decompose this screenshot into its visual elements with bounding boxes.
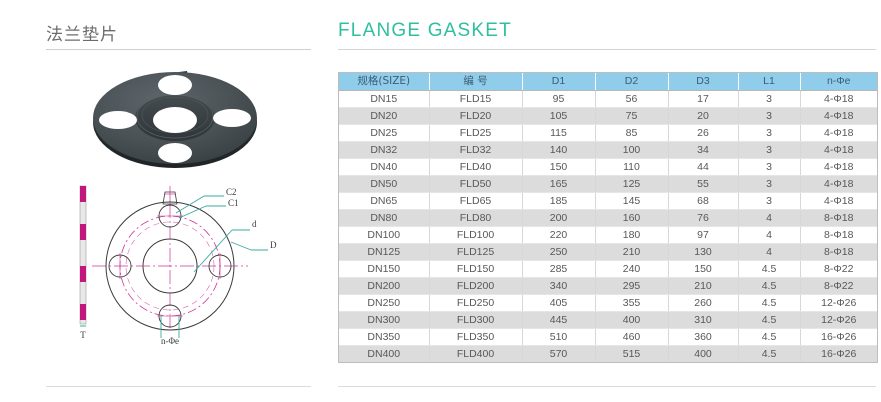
- cell-code: FLD100: [429, 227, 522, 244]
- cell-holes: 12-Φ26: [800, 295, 877, 312]
- cell-code: FLD15: [429, 91, 522, 108]
- cell-d3: 210: [668, 278, 738, 295]
- cell-l1: 4.5: [738, 312, 800, 329]
- table-row: DN300FLD3004454003104.512-Φ26: [339, 312, 877, 329]
- cell-size: DN50: [339, 176, 429, 193]
- cell-d1: 570: [522, 346, 595, 363]
- cell-d2: 515: [595, 346, 668, 363]
- cell-size: DN300: [339, 312, 429, 329]
- technical-drawing: T: [72, 180, 287, 345]
- cell-d1: 405: [522, 295, 595, 312]
- cell-d3: 260: [668, 295, 738, 312]
- label-d: d: [252, 219, 257, 229]
- cell-d1: 150: [522, 159, 595, 176]
- cell-size: DN250: [339, 295, 429, 312]
- table-row: DN32FLD321401003434-Φ18: [339, 142, 877, 159]
- cell-d1: 140: [522, 142, 595, 159]
- cell-d3: 17: [668, 91, 738, 108]
- table-row: DN25FLD25115852634-Φ18: [339, 125, 877, 142]
- spec-table-body: DN15FLD1595561734-Φ18DN20FLD20105752034-…: [339, 91, 877, 363]
- gasket-photo-svg: [75, 58, 275, 178]
- page-title-chinese: 法兰垫片: [46, 20, 118, 45]
- cell-size: DN80: [339, 210, 429, 227]
- cell-l1: 4.5: [738, 329, 800, 346]
- cell-code: FLD80: [429, 210, 522, 227]
- footer-divider-left: [46, 386, 311, 387]
- cell-d3: 97: [668, 227, 738, 244]
- leader-c1: [179, 206, 206, 218]
- table-row: DN100FLD1002201809748-Φ18: [339, 227, 877, 244]
- col-header-d1: D1: [522, 73, 595, 91]
- cell-d1: 200: [522, 210, 595, 227]
- cell-d1: 510: [522, 329, 595, 346]
- cell-d1: 340: [522, 278, 595, 295]
- cell-holes: 8-Φ22: [800, 261, 877, 278]
- cell-d1: 105: [522, 108, 595, 125]
- table-row: DN125FLD12525021013048-Φ18: [339, 244, 877, 261]
- cell-d3: 44: [668, 159, 738, 176]
- label-T: T: [80, 330, 86, 340]
- col-header-holes: n-Φe: [800, 73, 877, 91]
- cell-holes: 4-Φ18: [800, 142, 877, 159]
- cell-l1: 4.5: [738, 278, 800, 295]
- cell-size: DN40: [339, 159, 429, 176]
- product-photo: [75, 58, 275, 178]
- title-divider-left: [46, 49, 311, 50]
- cell-l1: 4: [738, 210, 800, 227]
- cell-d3: 34: [668, 142, 738, 159]
- section-view-strip: T: [80, 186, 86, 340]
- cell-d2: 295: [595, 278, 668, 295]
- cell-size: DN32: [339, 142, 429, 159]
- gasket-bolt-hole-right: [213, 109, 251, 127]
- cell-d3: 150: [668, 261, 738, 278]
- label-C1: C1: [228, 198, 239, 208]
- col-header-size: 规格(SIZE): [339, 73, 429, 91]
- cell-d2: 100: [595, 142, 668, 159]
- cell-code: FLD32: [429, 142, 522, 159]
- cell-size: DN350: [339, 329, 429, 346]
- cell-d3: 68: [668, 193, 738, 210]
- col-header-code: 编 号: [429, 73, 522, 91]
- cell-holes: 4-Φ18: [800, 176, 877, 193]
- gasket-bolt-hole-bottom: [158, 143, 192, 163]
- cell-d1: 250: [522, 244, 595, 261]
- cell-l1: 4: [738, 244, 800, 261]
- cell-d2: 75: [595, 108, 668, 125]
- cell-size: DN150: [339, 261, 429, 278]
- gasket-bolt-hole-left: [99, 111, 137, 129]
- table-row: DN250FLD2504053552604.512-Φ26: [339, 295, 877, 312]
- leader-c2: [176, 196, 204, 213]
- cell-code: FLD200: [429, 278, 522, 295]
- cell-code: FLD250: [429, 295, 522, 312]
- cell-size: DN25: [339, 125, 429, 142]
- cell-d2: 180: [595, 227, 668, 244]
- plan-view: C2 C1 d D n-Φe: [92, 186, 277, 345]
- cell-size: DN400: [339, 346, 429, 363]
- cell-d3: 55: [668, 176, 738, 193]
- col-header-l1: L1: [738, 73, 800, 91]
- cell-l1: 3: [738, 176, 800, 193]
- cell-code: FLD150: [429, 261, 522, 278]
- cell-d1: 115: [522, 125, 595, 142]
- cell-l1: 3: [738, 159, 800, 176]
- cell-l1: 3: [738, 91, 800, 108]
- cell-size: DN200: [339, 278, 429, 295]
- label-D: D: [270, 240, 277, 250]
- table-header-row: 规格(SIZE) 编 号 D1 D2 D3 L1 n-Φe: [339, 73, 877, 91]
- cell-holes: 8-Φ22: [800, 278, 877, 295]
- cell-code: FLD125: [429, 244, 522, 261]
- cell-size: DN65: [339, 193, 429, 210]
- cell-d2: 125: [595, 176, 668, 193]
- cell-d2: 160: [595, 210, 668, 227]
- col-header-d3: D3: [668, 73, 738, 91]
- cell-holes: 16-Φ26: [800, 329, 877, 346]
- cell-d3: 26: [668, 125, 738, 142]
- table-row: DN80FLD802001607648-Φ18: [339, 210, 877, 227]
- cell-d1: 285: [522, 261, 595, 278]
- cell-d2: 145: [595, 193, 668, 210]
- cell-d2: 460: [595, 329, 668, 346]
- cell-holes: 4-Φ18: [800, 159, 877, 176]
- cell-l1: 4.5: [738, 295, 800, 312]
- cell-holes: 4-Φ18: [800, 91, 877, 108]
- table-row: DN20FLD20105752034-Φ18: [339, 108, 877, 125]
- cell-d2: 400: [595, 312, 668, 329]
- cell-l1: 4.5: [738, 346, 800, 363]
- cell-d2: 56: [595, 91, 668, 108]
- table-row: DN15FLD1595561734-Φ18: [339, 91, 877, 108]
- cell-l1: 3: [738, 125, 800, 142]
- cell-d1: 185: [522, 193, 595, 210]
- table-row: DN65FLD651851456834-Φ18: [339, 193, 877, 210]
- cell-code: FLD40: [429, 159, 522, 176]
- cell-holes: 12-Φ26: [800, 312, 877, 329]
- cell-code: FLD50: [429, 176, 522, 193]
- cell-l1: 3: [738, 108, 800, 125]
- title-divider-right: [338, 49, 876, 50]
- cell-d3: 310: [668, 312, 738, 329]
- cell-holes: 8-Φ18: [800, 244, 877, 261]
- leader-d-big: [231, 242, 251, 250]
- spec-table-container: 规格(SIZE) 编 号 D1 D2 D3 L1 n-Φe DN15FLD159…: [338, 72, 878, 363]
- col-header-d2: D2: [595, 73, 668, 91]
- cell-d1: 445: [522, 312, 595, 329]
- cell-holes: 4-Φ18: [800, 193, 877, 210]
- cell-holes: 4-Φ18: [800, 108, 877, 125]
- cell-code: FLD65: [429, 193, 522, 210]
- cell-size: DN125: [339, 244, 429, 261]
- cell-code: FLD350: [429, 329, 522, 346]
- spec-table: 规格(SIZE) 编 号 D1 D2 D3 L1 n-Φe DN15FLD159…: [339, 73, 877, 363]
- cell-holes: 16-Φ26: [800, 346, 877, 363]
- technical-drawing-svg: T: [72, 180, 287, 345]
- cell-d2: 355: [595, 295, 668, 312]
- cell-l1: 4.5: [738, 261, 800, 278]
- cell-d2: 210: [595, 244, 668, 261]
- table-row: DN200FLD2003402952104.58-Φ22: [339, 278, 877, 295]
- cell-code: FLD300: [429, 312, 522, 329]
- cell-l1: 3: [738, 193, 800, 210]
- table-row: DN150FLD1502852401504.58-Φ22: [339, 261, 877, 278]
- cell-d2: 110: [595, 159, 668, 176]
- cell-l1: 3: [738, 142, 800, 159]
- footer-divider-right: [338, 386, 876, 387]
- cell-holes: 8-Φ18: [800, 210, 877, 227]
- page-title-english: FLANGE GASKET: [338, 20, 512, 42]
- cell-l1: 4: [738, 227, 800, 244]
- cell-d2: 240: [595, 261, 668, 278]
- cell-size: DN100: [339, 227, 429, 244]
- cell-size: DN15: [339, 91, 429, 108]
- cell-d3: 20: [668, 108, 738, 125]
- label-n-phi-e: n-Φe: [161, 336, 179, 345]
- cell-d3: 76: [668, 210, 738, 227]
- gasket-center-hole: [153, 107, 197, 133]
- cell-code: FLD25: [429, 125, 522, 142]
- table-row: DN350FLD3505104603604.516-Φ26: [339, 329, 877, 346]
- cell-d1: 220: [522, 227, 595, 244]
- gasket-bolt-hole-top: [158, 75, 192, 95]
- cell-d2: 85: [595, 125, 668, 142]
- cell-d1: 165: [522, 176, 595, 193]
- cell-d3: 130: [668, 244, 738, 261]
- cell-size: DN20: [339, 108, 429, 125]
- cell-d3: 400: [668, 346, 738, 363]
- cell-d3: 360: [668, 329, 738, 346]
- table-row: DN50FLD501651255534-Φ18: [339, 176, 877, 193]
- cell-code: FLD20: [429, 108, 522, 125]
- cell-holes: 4-Φ18: [800, 125, 877, 142]
- label-C2: C2: [226, 187, 237, 197]
- cell-holes: 8-Φ18: [800, 227, 877, 244]
- table-row: DN400FLD4005705154004.516-Φ26: [339, 346, 877, 363]
- cell-code: FLD400: [429, 346, 522, 363]
- table-row: DN40FLD401501104434-Φ18: [339, 159, 877, 176]
- cell-d1: 95: [522, 91, 595, 108]
